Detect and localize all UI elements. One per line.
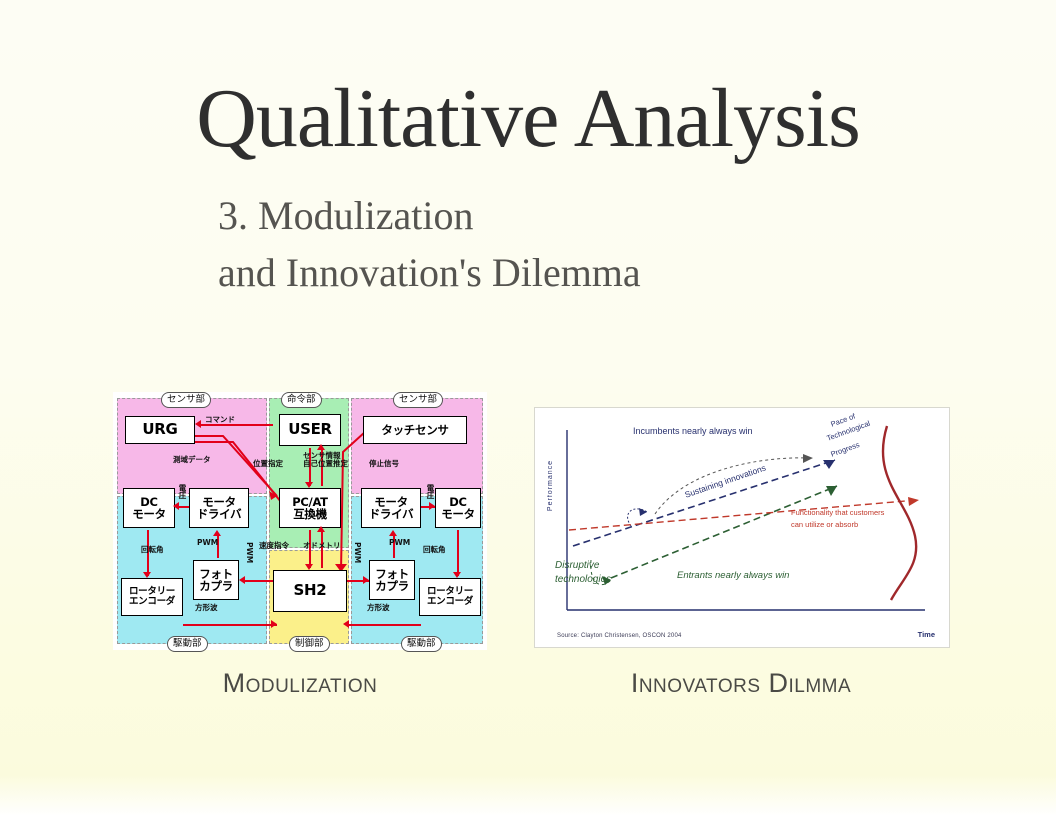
annotation-voltage-right: 電圧 — [425, 484, 436, 499]
annotation-self-position: センサ情報 自己位置推定 — [303, 452, 355, 468]
box-user: USER — [279, 414, 341, 446]
arrowhead-coupler-right — [363, 576, 369, 584]
annotation-odometry: オドメトリ — [303, 540, 341, 551]
annotation-stop-signal: 停止信号 — [369, 458, 399, 469]
chart-label-incumbents: Incumbents nearly always win — [633, 426, 753, 436]
arrowhead-motor-right — [429, 502, 435, 510]
caption-innovators-dilemma: Innovators Dilmma — [534, 668, 948, 699]
chart-label-functionality-line1: Functionality that customers — [791, 508, 884, 517]
caption-modulization: Modulization — [113, 668, 487, 699]
chart-svg — [535, 408, 947, 645]
annotation-pwm-vertical-right: PWM — [353, 542, 362, 563]
chart-label-functionality-line2: can utilize or absorb — [791, 520, 858, 529]
page-title: Qualitative Analysis — [0, 78, 1056, 160]
chart-label-disruptive-line2: technologies — [555, 574, 611, 585]
annotation-pwm-left: PWM — [197, 538, 218, 547]
box-urg: URG — [125, 416, 195, 444]
box-dc-motor-right: DC モータ — [435, 488, 481, 528]
arrowhead-driver-right — [389, 530, 397, 536]
annotation-position-set: 位置指定 — [253, 458, 283, 469]
title-block: Qualitative Analysis — [0, 78, 1056, 160]
arrowhead-sh2-from-left — [271, 620, 277, 628]
arrowhead-sh2-from-right — [343, 620, 349, 628]
arrowhead-motor-left — [173, 502, 179, 510]
subtitle-block: 3. Modulization and Innovation's Dilemma — [0, 188, 1056, 302]
innovators-dilemma-chart: Performance Time Incumbents nearly alway… — [535, 408, 949, 647]
arrowhead-pcat-down — [305, 482, 313, 488]
subtitle-line-1: 3. Modulization — [0, 188, 1056, 245]
zone-label-control: 制御部 — [289, 636, 330, 652]
box-photo-coupler-left: フォト カプラ — [193, 560, 239, 600]
chart-x-axis-label: Time — [918, 630, 935, 639]
box-motor-driver-right: モータ ドライバ — [361, 488, 421, 528]
arrowhead-encoder-left — [143, 572, 151, 578]
annotation-rotation-left: 回転角 — [141, 544, 164, 555]
zone-label-drive-right: 駆動部 — [401, 636, 442, 652]
box-rotary-encoder-right: ロータリー エンコーダ — [419, 578, 481, 616]
block-diagram: センサ部 命令部 センサ部 駆動部 制御部 駆動部 URG USER タッチセン… — [113, 392, 487, 650]
arrowhead-driver-left — [213, 530, 221, 536]
box-touch-sensor: タッチセンサ — [363, 416, 467, 444]
chart-label-disruptive-line1: Disruptive — [555, 560, 599, 571]
annotation-square-wave-right: 方形波 — [367, 602, 390, 613]
zone-label-drive-left: 駆動部 — [167, 636, 208, 652]
arrowhead-user-up — [317, 444, 325, 450]
box-sh2: SH2 — [273, 570, 347, 612]
arrowhead-coupler-left — [239, 576, 245, 584]
chart-label-entrants: Entrants nearly always win — [677, 570, 789, 581]
box-dc-motor-left: DC モータ — [123, 488, 175, 528]
annotation-rotation-right: 回転角 — [423, 544, 446, 555]
annotation-scan-data: 測域データ — [173, 454, 211, 465]
arrowhead-pcat-up — [317, 526, 325, 532]
box-pc-at: PC/AT 互換機 — [279, 488, 341, 528]
annotation-pwm-vertical-left: PWM — [245, 542, 254, 563]
figure-innovators-dilemma: Performance Time Incumbents nearly alway… — [534, 407, 950, 648]
box-rotary-encoder-left: ロータリー エンコーダ — [121, 578, 183, 616]
zone-label-sensor-left: センサ部 — [161, 392, 211, 408]
box-motor-driver-left: モータ ドライバ — [189, 488, 249, 528]
annotation-voltage-left: 電圧 — [177, 484, 188, 499]
annotation-speed-command: 速度指令 — [259, 540, 289, 551]
arrowhead-sh2-down — [305, 564, 313, 570]
zone-label-command: 命令部 — [281, 392, 322, 408]
annotation-pwm-right: PWM — [389, 538, 410, 547]
chart-source: Source: Clayton Christensen, OSCON 2004 — [557, 633, 682, 639]
zone-label-sensor-right: センサ部 — [393, 392, 443, 408]
annotation-square-wave-left: 方形波 — [195, 602, 218, 613]
arrowhead-urg — [195, 420, 201, 428]
annotation-command: コマンド — [205, 414, 235, 425]
box-photo-coupler-right: フォト カプラ — [369, 560, 415, 600]
subtitle-line-2: and Innovation's Dilemma — [0, 245, 1056, 302]
arrowhead-encoder-right — [453, 572, 461, 578]
figure-modulization: センサ部 命令部 センサ部 駆動部 制御部 駆動部 URG USER タッチセン… — [113, 392, 487, 650]
slide-root: Qualitative Analysis 3. Modulization and… — [0, 0, 1056, 816]
chart-y-axis-label: Performance — [547, 460, 554, 511]
